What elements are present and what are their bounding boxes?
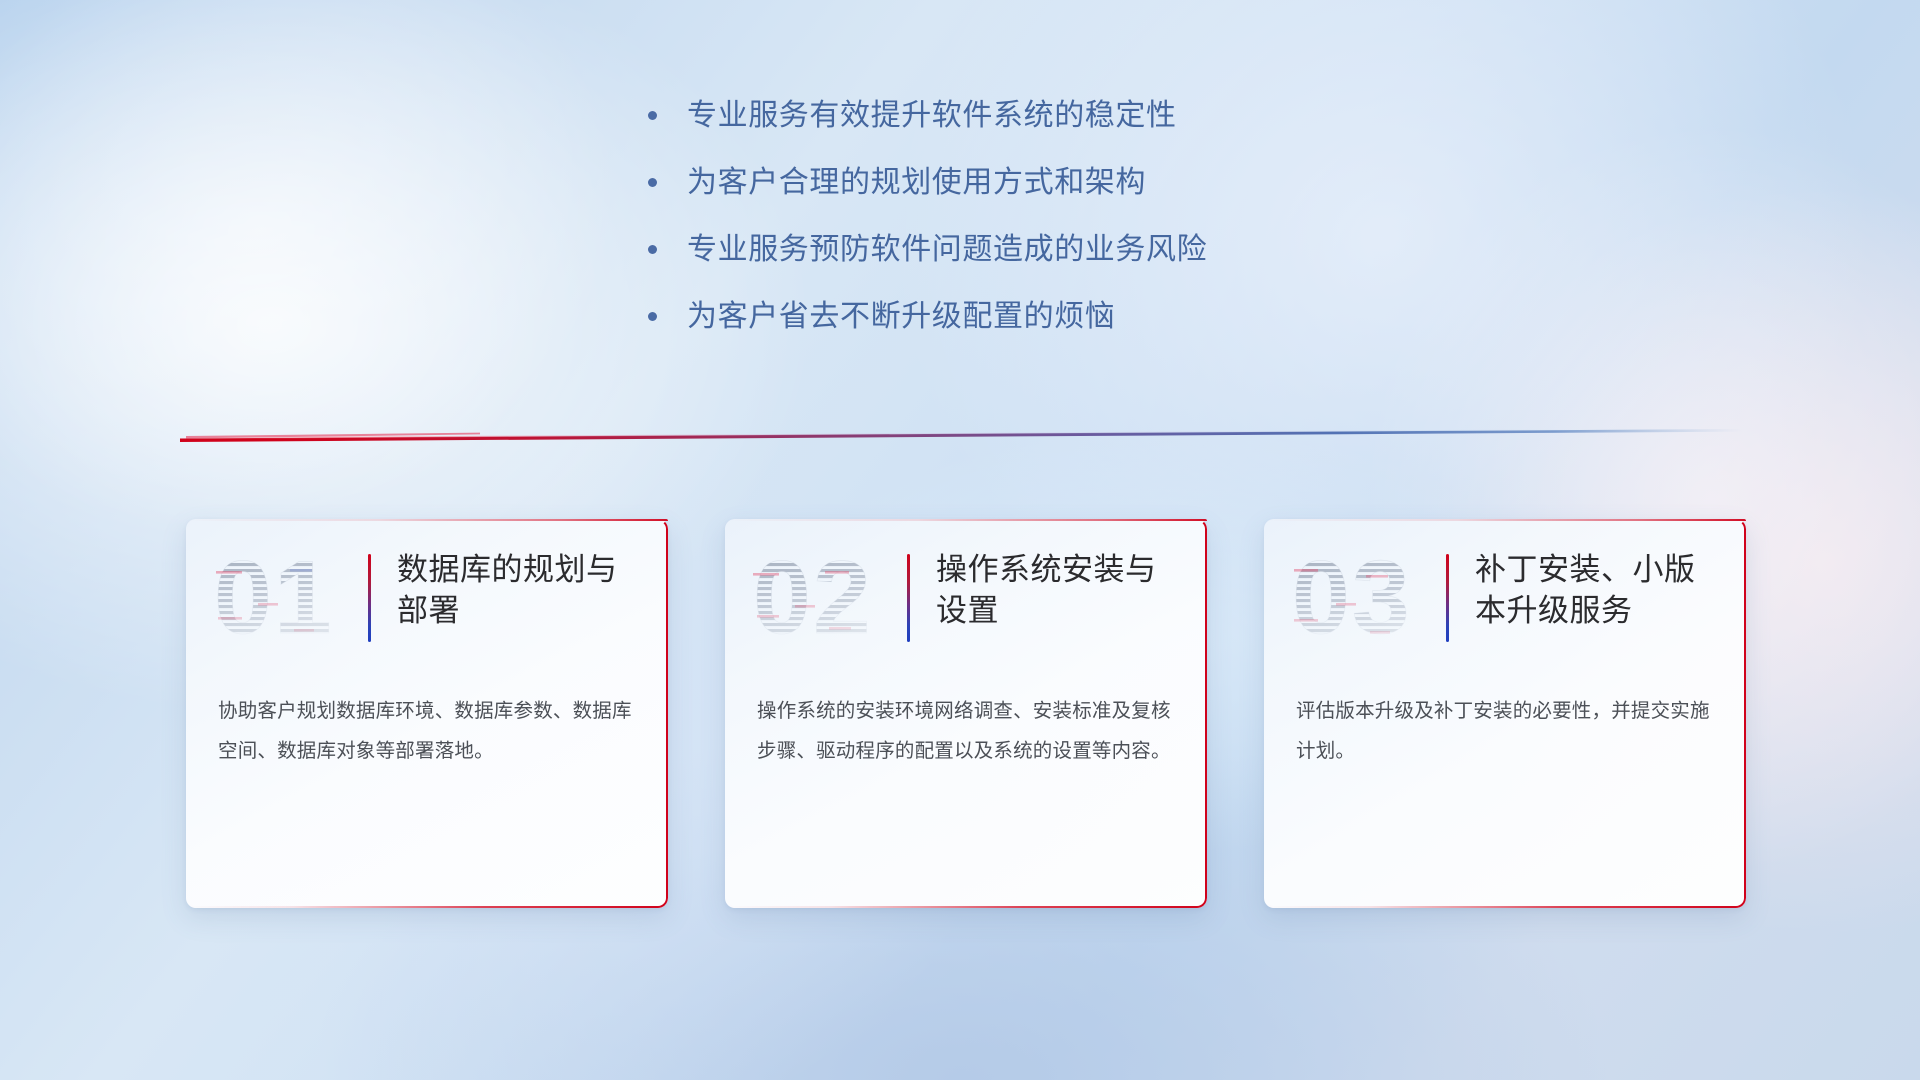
bullet-label: 为客户合理的规划使用方式和架构 bbox=[687, 165, 1146, 201]
bullet-label: 为客户省去不断升级配置的烦恼 bbox=[687, 299, 1115, 335]
card-header: 03 03 补丁安装、小版本升级服务 bbox=[1264, 519, 1746, 669]
card-header: 02 02 操作系统安装与设置 bbox=[725, 519, 1207, 669]
card-description: 协助客户规划数据库环境、数据库参数、数据库空间、数据库对象等部署落地。 bbox=[186, 669, 668, 772]
tapered-rule-icon bbox=[180, 418, 1742, 444]
card-divider-bar bbox=[1446, 554, 1449, 642]
card-title: 补丁安装、小版本升级服务 bbox=[1475, 545, 1716, 631]
striped-number-icon: 01 01 bbox=[212, 545, 362, 653]
card-divider-bar bbox=[907, 554, 910, 642]
bullet-dot-icon bbox=[648, 245, 657, 254]
bullet-dot-icon bbox=[648, 111, 657, 120]
list-item: 专业服务预防软件问题造成的业务风险 bbox=[648, 232, 1548, 268]
striped-number-icon: 03 03 bbox=[1290, 545, 1440, 653]
bullet-label: 专业服务预防软件问题造成的业务风险 bbox=[687, 232, 1207, 268]
striped-number-icon: 02 02 bbox=[751, 545, 901, 653]
slide-root: 专业服务有效提升软件系统的稳定性 为客户合理的规划使用方式和架构 专业服务预防软… bbox=[0, 0, 1920, 1080]
section-divider bbox=[180, 418, 1742, 444]
card-number-graphic: 02 02 bbox=[751, 545, 901, 653]
card-header: 01 01 数据库的规划与部署 bbox=[186, 519, 668, 669]
card-description: 评估版本升级及补丁安装的必要性，并提交实施计划。 bbox=[1264, 669, 1746, 772]
list-item: 专业服务有效提升软件系统的稳定性 bbox=[648, 98, 1548, 134]
service-card[interactable]: 01 01 数据库的规划与部署 协助客户规划 bbox=[186, 519, 668, 908]
card-title: 操作系统安装与设置 bbox=[936, 545, 1177, 631]
svg-text:01: 01 bbox=[214, 545, 334, 653]
svg-text:03: 03 bbox=[1292, 545, 1412, 653]
bullet-dot-icon bbox=[648, 312, 657, 321]
service-card[interactable]: 03 03 补丁安装、小版本升级服务 评估版 bbox=[1264, 519, 1746, 908]
card-number-graphic: 01 01 bbox=[212, 545, 362, 653]
service-card-list: 01 01 数据库的规划与部署 协助客户规划 bbox=[186, 519, 1746, 908]
list-item: 为客户省去不断升级配置的烦恼 bbox=[648, 299, 1548, 335]
card-number-graphic: 03 03 bbox=[1290, 545, 1440, 653]
list-item: 为客户合理的规划使用方式和架构 bbox=[648, 165, 1548, 201]
card-title: 数据库的规划与部署 bbox=[397, 545, 638, 631]
bullet-dot-icon bbox=[648, 178, 657, 187]
svg-text:02: 02 bbox=[753, 545, 873, 653]
bullet-list: 专业服务有效提升软件系统的稳定性 为客户合理的规划使用方式和架构 专业服务预防软… bbox=[648, 98, 1548, 366]
card-divider-bar bbox=[368, 554, 371, 642]
service-card[interactable]: 02 02 操作系统安装与设置 操作系统的安 bbox=[725, 519, 1207, 908]
bullet-label: 专业服务有效提升软件系统的稳定性 bbox=[687, 98, 1177, 134]
card-description: 操作系统的安装环境网络调查、安装标准及复核步骤、驱动程序的配置以及系统的设置等内… bbox=[725, 669, 1207, 772]
